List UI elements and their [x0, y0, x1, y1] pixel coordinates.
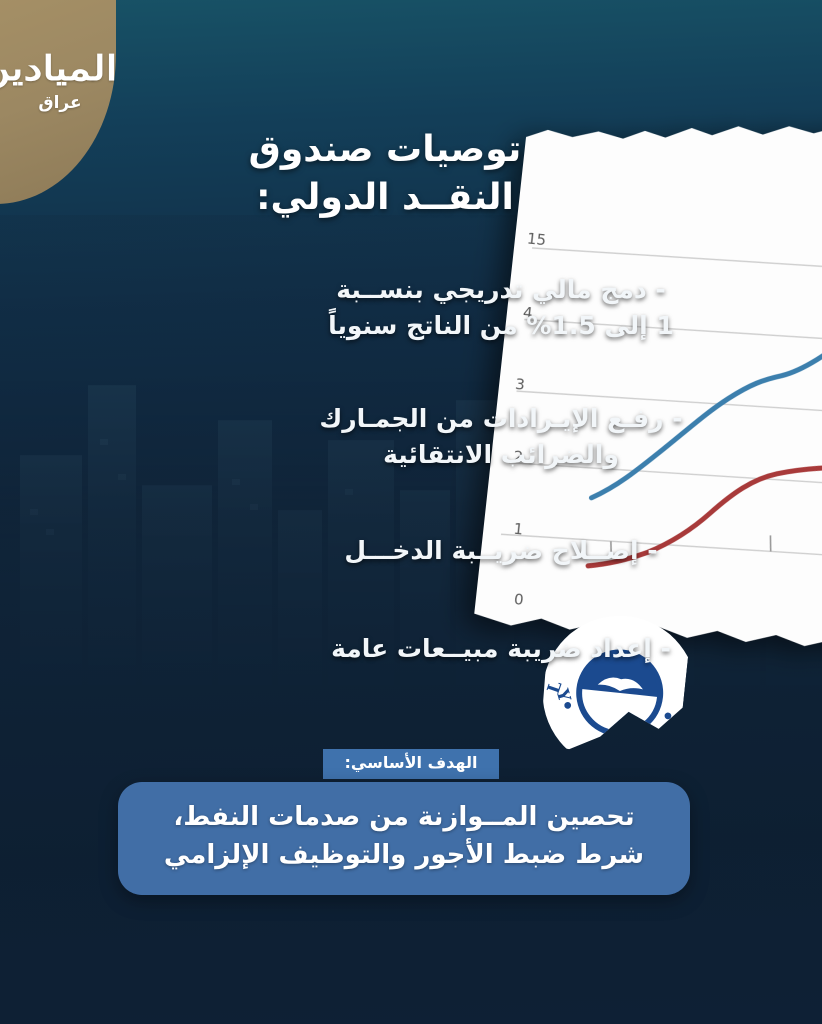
goal-tag-label: الهدف الأساسي:: [323, 749, 500, 779]
page-title: توصيات صندوق النقــد الدولي:: [220, 126, 550, 222]
brand-calligraphy-mark: الميادين: [3, 52, 118, 86]
page-title-line2: النقــد الدولي:: [220, 174, 550, 222]
brand-name-label: عراق: [14, 95, 106, 112]
bullet-4-line1: - إعداد ضريبة مبيــعات عامة: [276, 631, 726, 667]
goal-banner: تحصين المــوازنة من صدمات النفط، شرط ضبط…: [118, 782, 690, 895]
list-item: - إصــلاح ضريــبة الدخـــل: [276, 533, 726, 569]
bullet-1-line1: - دمج مالي تدريجي بنســبة: [276, 272, 726, 308]
list-item: - رفـع الإيـرادات من الجمـارك والضرائب ا…: [276, 401, 726, 474]
recommendations-list: - دمج مالي تدريجي بنســبة 1 إلى 1.5% من …: [276, 272, 726, 668]
chart-ytick-15: 15: [526, 229, 547, 249]
bullet-2-line1: - رفـع الإيـرادات من الجمـارك: [276, 401, 726, 437]
list-item: - دمج مالي تدريجي بنســبة 1 إلى 1.5% من …: [276, 272, 726, 345]
bullet-2-line2: والضرائب الانتقائية: [276, 437, 726, 473]
bullet-1-line2: 1 إلى 1.5% من الناتج سنوياً: [276, 308, 726, 344]
goal-line2: شرط ضبط الأجور والتوظيف الإلزامي: [144, 836, 664, 874]
infographic-poster: الميادين عراق 15 4: [0, 0, 822, 1024]
brand-logo[interactable]: الميادين عراق: [14, 52, 106, 112]
goal-tag: الهدف الأساسي:: [0, 749, 822, 779]
goal-line1: تحصين المــوازنة من صدمات النفط،: [144, 798, 664, 836]
bullet-3-line1: - إصــلاح ضريــبة الدخـــل: [276, 533, 726, 569]
page-title-line1: توصيات صندوق: [220, 126, 550, 174]
list-item: - إعداد ضريبة مبيــعات عامة: [276, 631, 726, 667]
